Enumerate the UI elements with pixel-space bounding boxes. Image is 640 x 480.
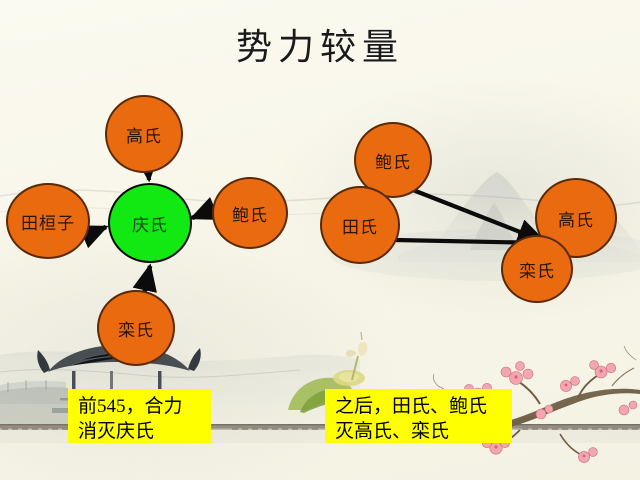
node-left-baoshi[interactable]: 鲍氏 [212,177,288,249]
caption-left-line1: 前545，合力 [78,394,203,419]
node-label: 栾氏 [118,316,154,341]
node-left-qingshi[interactable]: 庆氏 [108,183,192,263]
node-left-gaoshi[interactable]: 高氏 [105,95,183,173]
caption-right-line2: 灭高氏、栾氏 [335,419,504,444]
arrow-luanshi-to-qingshi [144,266,150,294]
node-label: 庆氏 [132,211,168,236]
node-label: 高氏 [558,206,594,231]
arrow-baoshi-to-gaoshi [413,190,543,241]
node-label: 栾氏 [519,257,555,282]
node-label: 田桓子 [21,209,75,234]
node-label: 鲍氏 [232,201,268,226]
node-right-luanshi[interactable]: 栾氏 [501,235,573,303]
caption-right: 之后，田氏、鲍氏 灭高氏、栾氏 [325,389,512,443]
node-left-luanshi[interactable]: 栾氏 [97,290,175,366]
node-left-tianhuanzi[interactable]: 田桓子 [6,183,90,259]
node-right-tianshi[interactable]: 田氏 [320,186,400,264]
slide-canvas: 势力较量 高氏 [0,0,640,480]
caption-right-line1: 之后，田氏、鲍氏 [335,394,504,419]
node-label: 鲍氏 [375,148,411,173]
node-label: 高氏 [126,122,162,147]
caption-left: 前545，合力 消灭庆氏 [68,389,211,443]
node-label: 田氏 [342,213,378,238]
caption-left-line2: 消灭庆氏 [78,419,203,444]
